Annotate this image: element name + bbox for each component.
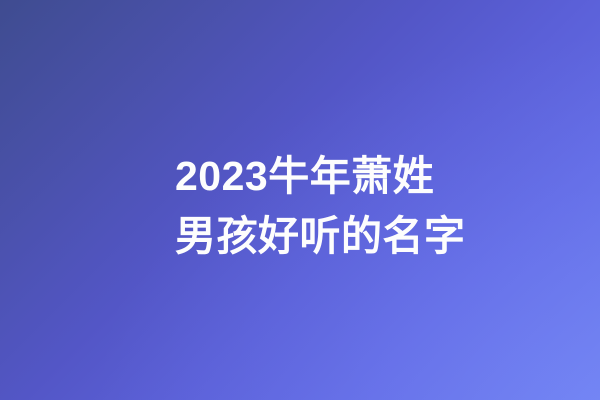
banner-title: 2023牛年萧姓 男孩好听的名字	[175, 146, 475, 266]
banner-title-line-1: 2023牛年萧姓	[175, 146, 475, 206]
title-banner: 2023牛年萧姓 男孩好听的名字	[0, 0, 600, 400]
banner-title-line-2: 男孩好听的名字	[175, 206, 475, 266]
